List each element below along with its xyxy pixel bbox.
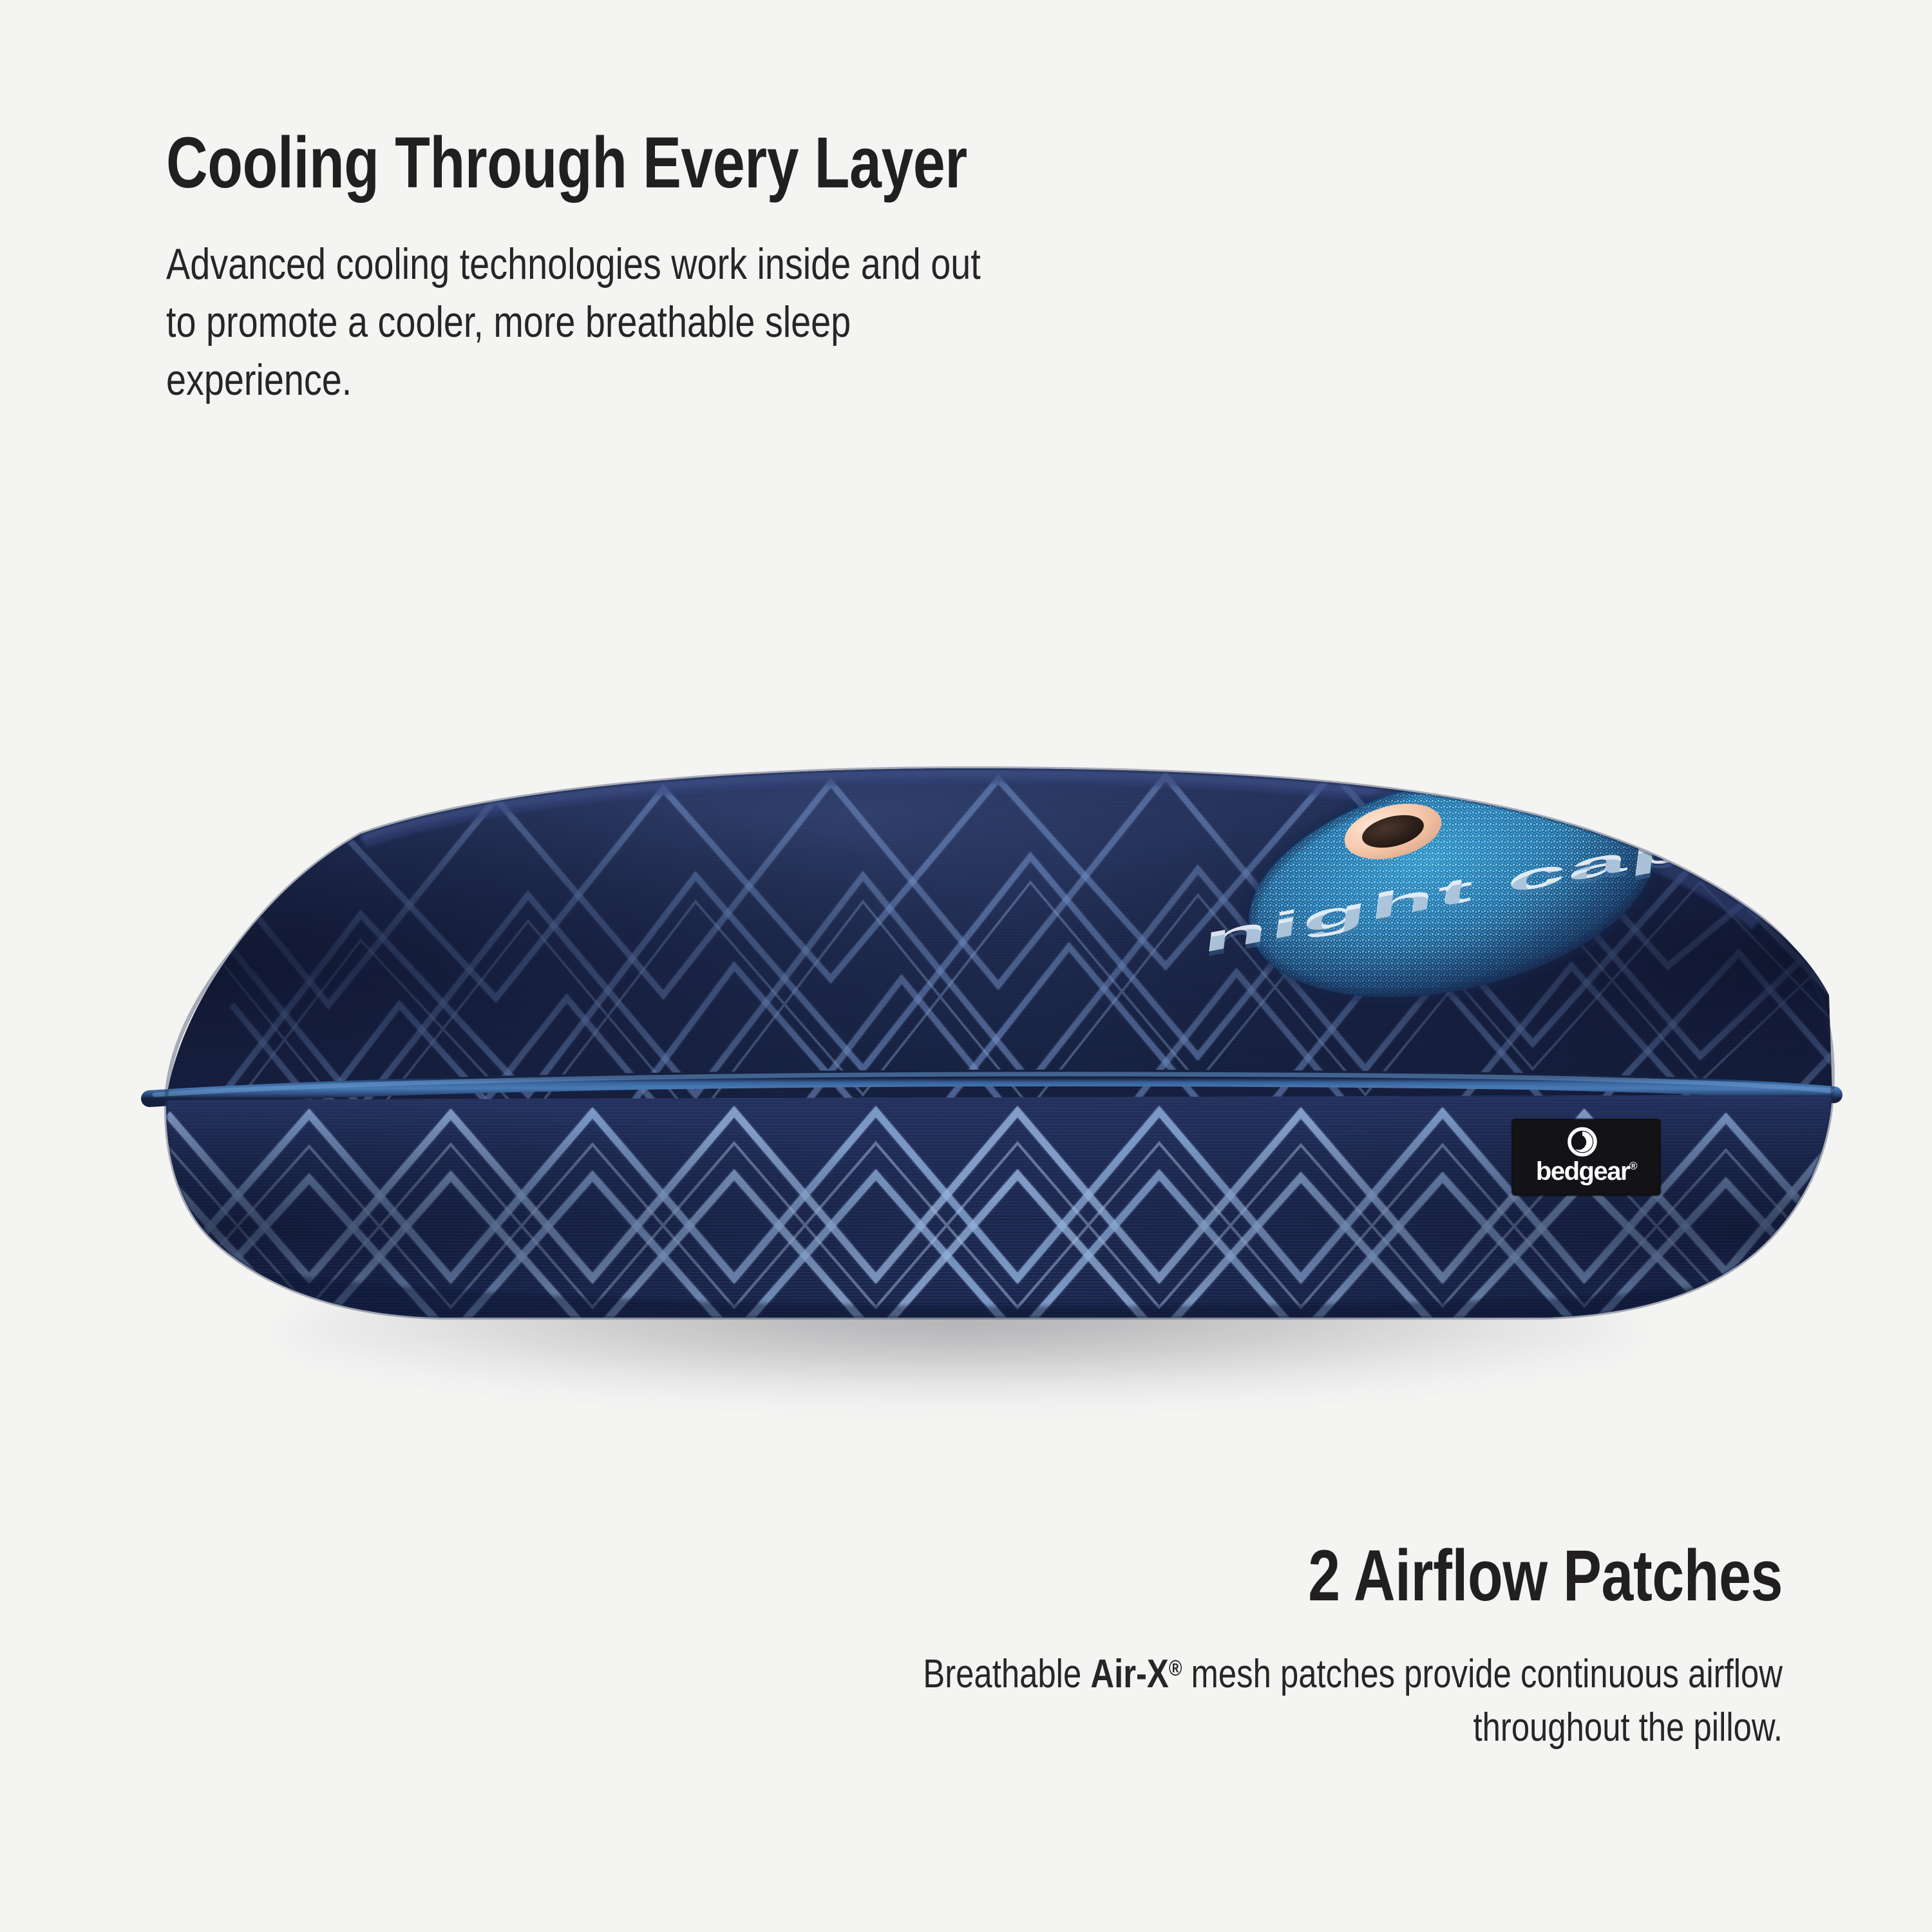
page-title: Cooling Through Every Layer [166, 126, 1135, 200]
air-x-brand: Air-X [1090, 1652, 1168, 1696]
top-copy-block: Cooling Through Every Layer Advanced coo… [166, 126, 1377, 409]
airflow-description-part2: mesh patches provide continuous airflow … [1182, 1652, 1783, 1750]
product-drop-shadow [277, 1272, 1642, 1394]
product-feature-page: Cooling Through Every Layer Advanced coo… [0, 0, 1932, 1932]
airflow-description-part1: Breathable [923, 1652, 1090, 1696]
top-description: Advanced cooling technologies work insid… [166, 236, 990, 409]
bottom-copy-block: 2 Airflow Patches Breathable Air-X® mesh… [688, 1539, 1783, 1754]
registered-mark: ® [1169, 1656, 1182, 1680]
airflow-description: Breathable Air-X® mesh patches provide c… [885, 1647, 1783, 1754]
airflow-patches-title: 2 Airflow Patches [907, 1539, 1783, 1613]
